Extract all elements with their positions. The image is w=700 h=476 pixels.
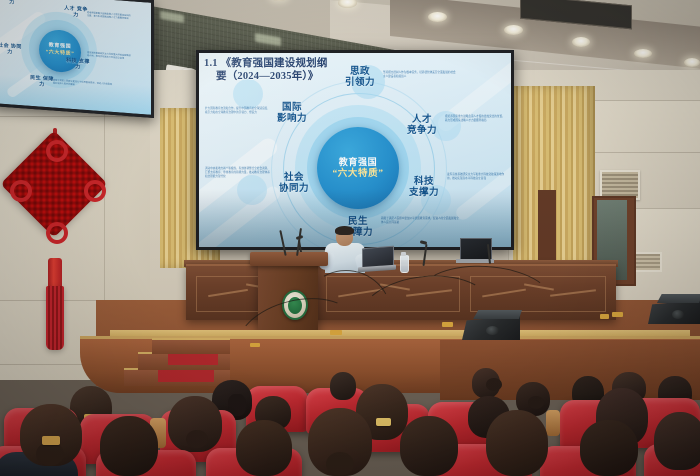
audience-head: [100, 416, 158, 476]
audience-hair-bun: [528, 396, 544, 409]
knot-loop: [10, 180, 32, 202]
side-label: 科技 支撑力: [65, 58, 91, 71]
audience-head: [486, 410, 548, 476]
slide-core-circle: 教育强国 “六大特质”: [317, 127, 399, 209]
ceiling-downlight: [504, 25, 523, 35]
cable-tape: [442, 322, 453, 327]
audience-head: [580, 420, 638, 476]
wall-seam: [588, 152, 700, 153]
cable-tape: [612, 312, 623, 317]
hair-tie: [42, 436, 60, 445]
audience-head: [654, 412, 700, 470]
knot-loop: [84, 180, 106, 202]
ceiling-downlight: [428, 12, 447, 22]
stage-monitor-grille: [672, 310, 684, 319]
lecture-hall-photo: 教育强国 “六大特质” 国际 影响力 人才 竞争力 社会 协同力 科技 支撑力 …: [0, 0, 700, 476]
side-desc: 把培养国家重大战略急需人才摆在更加突出的位置，着力形成国家战略人才力量雁阵格局: [87, 12, 131, 22]
slide-item-label-rencai: 人才竞争力: [405, 115, 439, 137]
lectern-top: [250, 252, 328, 266]
slide-blob: [233, 79, 263, 109]
door-jamb: [538, 190, 556, 262]
slide-item-desc-sizheng: 坚持把立德树人作为根本任务，培养德智体美劳全面发展的社会主义建设者和接班人: [383, 71, 457, 79]
chinese-knot: [8, 128, 102, 358]
slide-item-desc-rencai: 把培养国家重大战略急需人才摆在更加突出的位置，着力形成国家战略人才力量雁阵格局: [445, 115, 507, 123]
slide-item-desc-shehui: 调动中央和地方两个积极性，有效协调整合全社会资源，汇聚支持教育、尊重教育的磅礴力…: [205, 167, 271, 179]
presenter-hair: [335, 226, 354, 235]
knot-loop: [46, 140, 68, 162]
ceiling-downlight: [684, 58, 700, 67]
hair-tie: [376, 418, 391, 426]
slide-blob: [237, 175, 267, 205]
main-projection-screen: 1.1 《教育强国建设规划纲 要（2024—2035年）》 教育强国 “六大特质…: [196, 50, 514, 250]
knot-loop: [46, 222, 68, 244]
audience-hair-bun: [36, 442, 64, 466]
audience-head: [330, 372, 356, 400]
ceiling-downlight: [634, 49, 652, 58]
audience-hair-bun: [186, 430, 208, 448]
ceiling-downlight: [572, 37, 590, 47]
audience-head: [400, 416, 458, 476]
slide-item-label-keji: 科技支撑力: [407, 177, 441, 199]
slide-title: 1.1 《教育强国建设规划纲 要（2024—2035年）》: [204, 57, 354, 83]
knot-tassel: [46, 286, 64, 350]
stage-steps[interactable]: [124, 330, 234, 392]
side-slide-canvas: 教育强国 “六大特质” 国际 影响力 人才 竞争力 社会 协同力 科技 支撑力 …: [0, 0, 151, 115]
core-label-bottom: “六大特质”: [332, 168, 383, 181]
slide-item-desc-minsheng: 着眼于满足人民群众更加公平优质教育需求，促进人的全面发展和全体人民共同富裕: [381, 217, 461, 225]
audience-hair-bun: [486, 378, 502, 391]
cable-tape: [250, 343, 260, 347]
side-label: 人才 竞争力: [63, 6, 89, 19]
seat-armrest: [546, 410, 560, 436]
cable-tape: [330, 330, 342, 335]
slide-item-label-shehui: 社会协同力: [277, 173, 311, 195]
wall-seam: [0, 116, 150, 117]
core-label-top: 教育强国: [339, 156, 377, 168]
water-bottle: [400, 255, 409, 273]
slide-item-desc-guoji: 扩大国际教育交流和合作，提升中国教育的全球适应度、吸引力和在全球教育治理中的引领…: [205, 107, 271, 115]
slide-title-text: 《教育强国建设规划纲: [221, 58, 328, 69]
side-label: 民生 保障力: [29, 76, 55, 89]
left-secondary-screen: 教育强国 “六大特质” 国际 影响力 人才 竞争力 社会 协同力 科技 支撑力 …: [0, 0, 154, 118]
audience-head: [236, 420, 292, 476]
bottle-cap: [401, 252, 406, 256]
slide-title-text2: 要（2024—2035年）》: [216, 70, 319, 83]
slide-canvas: 1.1 《教育强国建设规划纲 要（2024—2035年）》 教育强国 “六大特质…: [199, 53, 511, 247]
side-label: 国际 影响力: [0, 0, 25, 7]
audience-hair-bun: [326, 452, 354, 476]
side-label: 社会 协同力: [0, 43, 23, 56]
slide-item-label-sizheng: 思政引领力: [343, 67, 377, 89]
side-core-bottom: “六大特质”: [46, 50, 75, 59]
slide-item-desc-keji: 发挥高校基础研究主力军和重大科技突破策源地作用，推动实现高水平科技自立自强: [447, 173, 507, 181]
cable-tape: [600, 314, 609, 319]
slide-item-label-guoji: 国际影响力: [275, 103, 309, 125]
slide-title-number: 1.1: [204, 58, 218, 69]
